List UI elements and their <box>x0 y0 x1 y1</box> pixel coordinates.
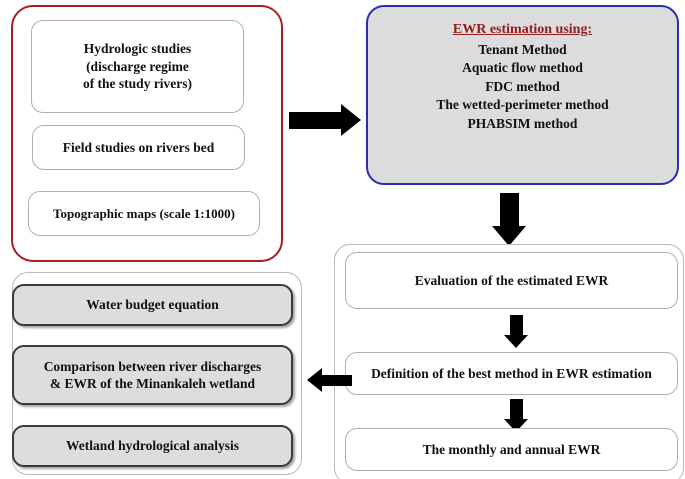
arrow-ewr-to-evaluation <box>492 193 526 246</box>
box-line: The monthly and annual EWR <box>419 441 605 459</box>
box-line: Water budget equation <box>82 296 223 314</box>
arrow-shaft <box>322 375 352 386</box>
box-comparison-discharges-ewr: Comparison between river discharges & EW… <box>12 345 293 405</box>
box-line: Comparison between river discharges <box>40 358 266 376</box>
box-line: Hydrologic studies <box>80 40 195 58</box>
box-line: Wetland hydrological analysis <box>62 437 243 455</box>
box-ewr-estimation-methods: EWR estimation using: Tenant Method Aqua… <box>366 5 679 185</box>
arrow-shaft <box>510 315 523 335</box>
box-line: Field studies on rivers bed <box>59 139 219 157</box>
box-water-budget-equation: Water budget equation <box>12 284 293 326</box>
box-hydrologic-studies: Hydrologic studies (discharge regime of … <box>31 20 244 113</box>
arrow-inputs-to-ewr <box>289 104 361 136</box>
arrow-head <box>341 104 361 136</box>
ewr-method-item: Aquatic flow method <box>462 59 583 78</box>
box-evaluation-of-estimated-ewr: Evaluation of the estimated EWR <box>345 252 678 309</box>
box-wetland-hydrological-analysis: Wetland hydrological analysis <box>12 425 293 467</box>
box-line: Topographic maps (scale 1:1000) <box>49 205 239 222</box>
arrow-results-to-wetland <box>307 368 352 392</box>
box-line: of the study rivers) <box>79 75 196 93</box>
box-line: Evaluation of the estimated EWR <box>411 272 613 290</box>
arrow-head <box>307 368 322 392</box>
flowchart-canvas: Hydrologic studies (discharge regime of … <box>0 0 685 479</box>
box-monthly-annual-ewr: The monthly and annual EWR <box>345 428 678 471</box>
arrow-shaft <box>500 193 519 226</box>
arrow-shaft <box>289 112 341 129</box>
ewr-method-item: FDC method <box>485 77 560 96</box>
ewr-method-item: The wetted-perimeter method <box>436 96 608 115</box>
ewr-title: EWR estimation using: <box>453 23 592 40</box>
box-line: (discharge regime <box>82 58 193 76</box>
arrow-evaluation-to-definition <box>504 315 528 348</box>
box-line: Definition of the best method in EWR est… <box>367 365 656 383</box>
ewr-method-item: Tenant Method <box>478 40 566 59</box>
box-field-studies: Field studies on rivers bed <box>32 125 245 170</box>
box-definition-of-best-method: Definition of the best method in EWR est… <box>345 352 678 395</box>
ewr-method-item: PHABSIM method <box>468 114 578 133</box>
arrow-shaft <box>510 399 523 419</box>
arrow-head <box>492 226 526 246</box>
box-line: & EWR of the Minankaleh wetland <box>46 375 259 393</box>
box-topographic-maps: Topographic maps (scale 1:1000) <box>28 191 260 236</box>
arrow-head <box>504 335 528 348</box>
